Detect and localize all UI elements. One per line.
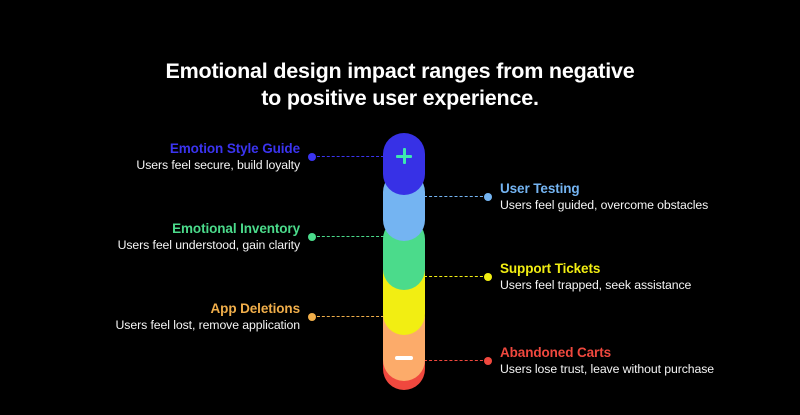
connector-dot [484,193,492,201]
label-description: Users lose trust, leave without purchase [500,361,800,378]
connector-emotional-inventory [312,236,384,237]
label-app-deletions: App Deletions Users feel lost, remove ap… [0,300,300,334]
connector-support-tickets [424,276,488,277]
connector-dot [308,313,316,321]
label-abandoned-carts: Abandoned Carts Users lose trust, leave … [500,344,800,378]
connector-dot [308,153,316,161]
label-emotional-inventory: Emotional Inventory Users feel understoo… [0,220,300,254]
label-description: Users feel lost, remove application [0,317,300,334]
infographic-canvas: Emotional design impact ranges from nega… [0,0,800,415]
label-emotion-style-guide: Emotion Style Guide Users feel secure, b… [0,140,300,174]
connector-abandoned-carts [424,360,488,361]
page-title: Emotional design impact ranges from nega… [0,58,800,112]
label-description: Users feel guided, overcome obstacles [500,197,800,214]
connector-dot [484,273,492,281]
label-description: Users feel understood, gain clarity [0,237,300,254]
connector-app-deletions [312,316,384,317]
label-heading: Support Tickets [500,260,800,277]
connector-dot [484,357,492,365]
label-description: Users feel trapped, seek assistance [500,277,800,294]
label-heading: Abandoned Carts [500,344,800,361]
connector-emotion-style-guide [312,156,384,157]
label-support-tickets: Support Tickets Users feel trapped, seek… [500,260,800,294]
minus-icon [383,348,425,364]
label-heading: Emotional Inventory [0,220,300,237]
label-heading: Emotion Style Guide [0,140,300,157]
label-user-testing: User Testing Users feel guided, overcome… [500,180,800,214]
label-heading: User Testing [500,180,800,197]
label-heading: App Deletions [0,300,300,317]
title-line-1: Emotional design impact ranges from nega… [0,58,800,85]
plus-icon [383,148,425,168]
connector-dot [308,233,316,241]
title-line-2: to positive user experience. [0,85,800,112]
connector-user-testing [424,196,488,197]
label-description: Users feel secure, build loyalty [0,157,300,174]
